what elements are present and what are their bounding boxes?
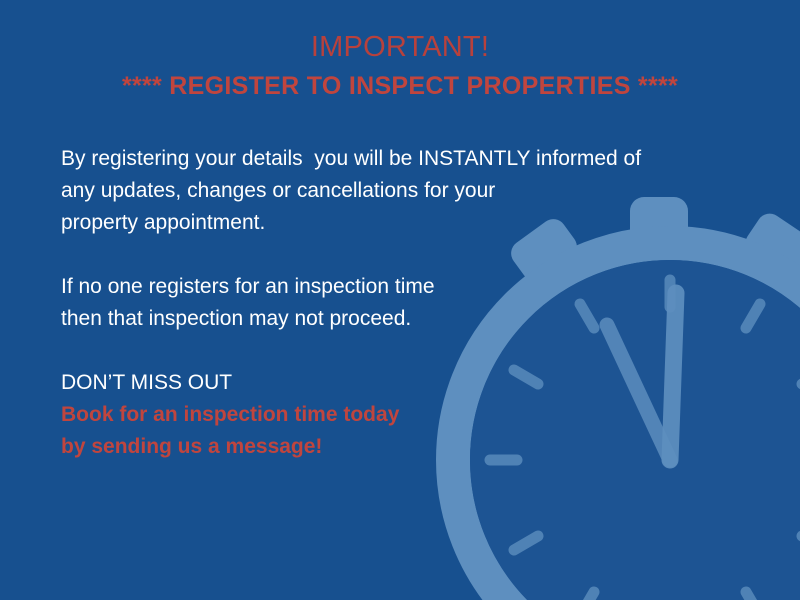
paragraph-registering-details: By registering your details you will be … bbox=[61, 143, 741, 239]
cta-book-inspection: Book for an inspection time today bbox=[61, 399, 741, 431]
cta-send-message: by sending us a message! bbox=[61, 431, 741, 463]
promotional-slide: IMPORTANT! **** REGISTER TO INSPECT PROP… bbox=[0, 0, 800, 600]
body-line: By registering your details you will be … bbox=[61, 143, 741, 175]
headline-register-to-inspect: **** REGISTER TO INSPECT PROPERTIES **** bbox=[0, 66, 800, 106]
paragraph-no-registrations: If no one registers for an inspection ti… bbox=[61, 271, 741, 335]
headline-block: IMPORTANT! **** REGISTER TO INSPECT PROP… bbox=[0, 28, 800, 106]
body-line: any updates, changes or cancellations fo… bbox=[61, 175, 741, 207]
stopwatch-right-button bbox=[740, 209, 800, 282]
cta-dont-miss-out: DON’T MISS OUT bbox=[61, 367, 741, 399]
body-copy: By registering your details you will be … bbox=[61, 143, 741, 463]
body-line: then that inspection may not proceed. bbox=[61, 303, 741, 335]
body-line: If no one registers for an inspection ti… bbox=[61, 271, 741, 303]
body-line: property appointment. bbox=[61, 207, 741, 239]
headline-important: IMPORTANT! bbox=[0, 28, 800, 66]
paragraph-call-to-action: DON’T MISS OUT Book for an inspection ti… bbox=[61, 367, 741, 463]
